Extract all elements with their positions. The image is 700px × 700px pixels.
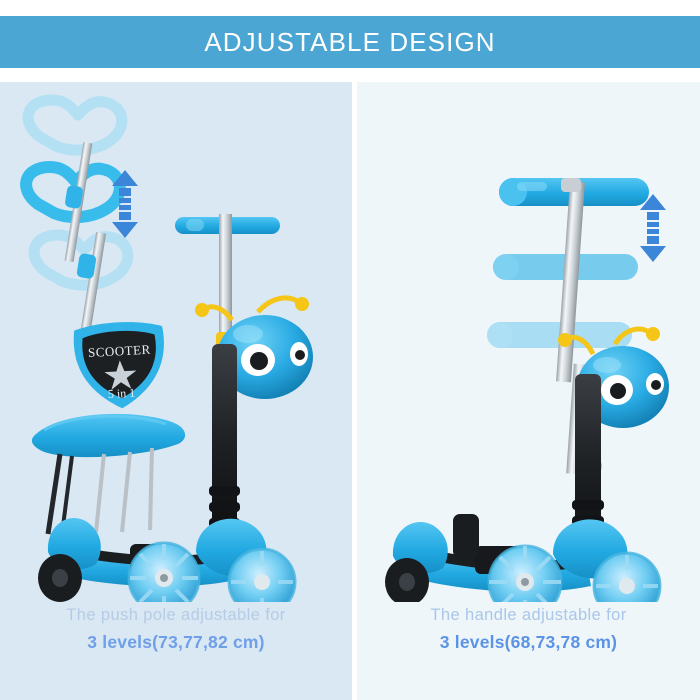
panel-container: SCOOTER 5 in 1	[0, 82, 700, 700]
caption-line-2: 3 levels(73,77,82 cm)	[0, 628, 352, 656]
page-title: ADJUSTABLE DESIGN	[204, 27, 495, 58]
caption-handle: The handle adjustable for 3 levels(68,73…	[357, 602, 700, 656]
product-infographic: ADJUSTABLE DESIGN	[0, 0, 700, 700]
scooter-stem-left	[209, 344, 240, 528]
scooter-image-push-pole: SCOOTER 5 in 1	[0, 82, 352, 602]
scooter-stem-right	[572, 374, 604, 542]
scooter-image-handle	[357, 82, 700, 602]
wheel-front-left	[129, 543, 199, 602]
push-pole-handle-ghost-top	[28, 100, 122, 150]
badge-model-text: 5 in 1	[108, 386, 136, 401]
caption-push-pole: The push pole adjustable for 3 levels(73…	[0, 602, 352, 656]
scooter-illustration-left: SCOOTER 5 in 1	[0, 82, 352, 602]
header-banner: ADJUSTABLE DESIGN	[0, 16, 700, 68]
up-down-arrow-icon-right	[640, 194, 666, 262]
up-down-arrow-icon-left	[112, 170, 138, 238]
caption-line-1: The handle adjustable for	[357, 602, 700, 628]
caption-line-2: 3 levels(68,73,78 cm)	[357, 628, 700, 656]
rear-fender-right	[385, 514, 479, 602]
caption-line-1: The push pole adjustable for	[0, 602, 352, 628]
panel-push-pole: SCOOTER 5 in 1	[0, 82, 352, 700]
wheel-rear-left	[229, 549, 295, 602]
panel-handle: The handle adjustable for 3 levels(68,73…	[357, 82, 700, 700]
wheel-front-right	[489, 546, 561, 602]
scooter-illustration-right	[357, 82, 700, 602]
scooter-badge: SCOOTER 5 in 1	[73, 320, 167, 411]
scooter-seat	[32, 414, 185, 534]
